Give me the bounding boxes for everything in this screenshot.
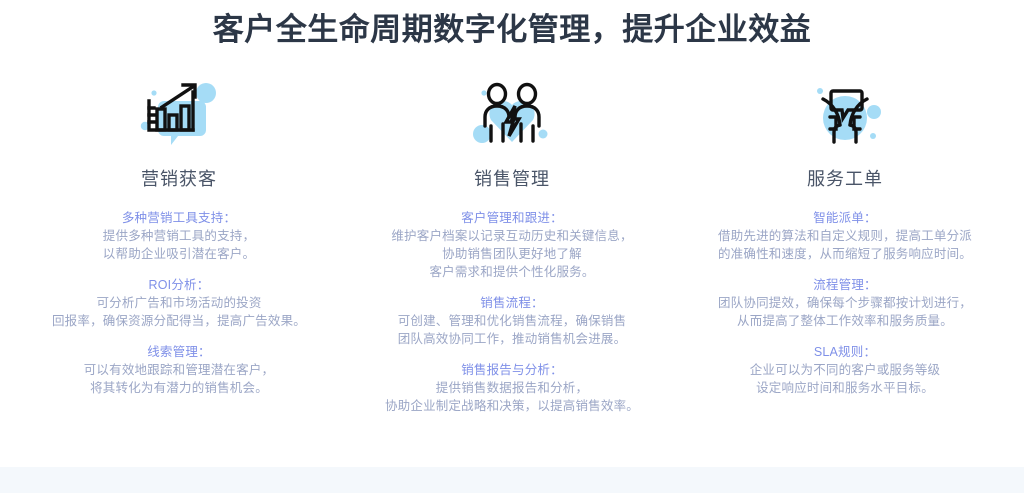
support-agent-speech-bubble-icon: [790, 74, 900, 156]
feature-section-page: 客户全生命周期数字化管理，提升企业效益: [0, 0, 1024, 493]
block-line: 团队协同提效，确保每个步骤都按计划进行，: [679, 294, 1012, 312]
feature-body-marketing: 多种营销工具支持： 提供多种营销工具的支持， 以帮助企业吸引潜在客户。 ROI分…: [13, 209, 346, 397]
block-lines: 企业可以为不同的客户或服务等级 设定响应时间和服务水平目标。: [679, 361, 1012, 397]
block-lines: 可分析广告和市场活动的投资 回报率，确保资源分配得当，提高广告效果。: [13, 294, 346, 330]
feature-block: 流程管理： 团队协同提效，确保每个步骤都按计划进行， 从而提高了整体工作效率和服…: [679, 276, 1012, 330]
block-label: 客户管理和跟进：: [346, 209, 679, 227]
feature-block: 多种营销工具支持： 提供多种营销工具的支持， 以帮助企业吸引潜在客户。: [13, 209, 346, 263]
feature-column-sales: 销售管理 客户管理和跟进： 维护客户档案以记录互动历史和关键信息， 协助销售团队…: [346, 74, 679, 414]
feature-block: 线索管理： 可以有效地跟踪和管理潜在客户， 将其转化为有潜力的销售机会。: [13, 343, 346, 397]
block-lines: 提供多种营销工具的支持， 以帮助企业吸引潜在客户。: [13, 227, 346, 263]
two-people-lightning-heart-icon: [457, 74, 567, 156]
feature-block: 客户管理和跟进： 维护客户档案以记录互动历史和关键信息， 协助销售团队更好地了解…: [346, 209, 679, 281]
block-label: 销售报告与分析：: [346, 361, 679, 379]
block-line: 维护客户档案以记录互动历史和关键信息，: [346, 227, 679, 245]
block-line: 企业可以为不同的客户或服务等级: [679, 361, 1012, 379]
block-line: 提供多种营销工具的支持，: [13, 227, 346, 245]
block-lines: 团队协同提效，确保每个步骤都按计划进行， 从而提高了整体工作效率和服务质量。: [679, 294, 1012, 330]
block-label: 销售流程：: [346, 294, 679, 312]
feature-columns: 营销获客 多种营销工具支持： 提供多种营销工具的支持， 以帮助企业吸引潜在客户。…: [0, 74, 1024, 414]
block-line: 从而提高了整体工作效率和服务质量。: [679, 312, 1012, 330]
block-label: 线索管理：: [13, 343, 346, 361]
block-label: SLA规则：: [679, 343, 1012, 361]
block-label: 智能派单：: [679, 209, 1012, 227]
feature-column-service: 服务工单 智能派单： 借助先进的算法和自定义规则，提高工单分派 的准确性和速度，…: [679, 74, 1012, 396]
block-lines: 可创建、管理和优化销售流程，确保销售 团队高效协同工作，推动销售机会进展。: [346, 312, 679, 348]
block-line: 以帮助企业吸引潜在客户。: [13, 245, 346, 263]
feature-column-marketing: 营销获客 多种营销工具支持： 提供多种营销工具的支持， 以帮助企业吸引潜在客户。…: [13, 74, 346, 396]
block-lines: 维护客户档案以记录互动历史和关键信息， 协助销售团队更好地了解 客户需求和提供个…: [346, 227, 679, 281]
block-lines: 可以有效地跟踪和管理潜在客户， 将其转化为有潜力的销售机会。: [13, 361, 346, 397]
footer-band: [0, 467, 1024, 493]
block-line: 客户需求和提供个性化服务。: [346, 263, 679, 281]
block-label: ROI分析：: [13, 276, 346, 294]
block-line: 可创建、管理和优化销售流程，确保销售: [346, 312, 679, 330]
block-line: 提供销售数据报告和分析，: [346, 379, 679, 397]
feature-block: 智能派单： 借助先进的算法和自定义规则，提高工单分派 的准确性和速度，从而缩短了…: [679, 209, 1012, 263]
bar-chart-growth-icon: [124, 74, 234, 156]
feature-title-sales: 销售管理: [474, 168, 550, 191]
block-label: 流程管理：: [679, 276, 1012, 294]
block-line: 回报率，确保资源分配得当，提高广告效果。: [13, 312, 346, 330]
block-line: 将其转化为有潜力的销售机会。: [13, 379, 346, 397]
feature-body-sales: 客户管理和跟进： 维护客户档案以记录互动历史和关键信息， 协助销售团队更好地了解…: [346, 209, 679, 415]
block-line: 团队高效协同工作，推动销售机会进展。: [346, 330, 679, 348]
block-lines: 借助先进的算法和自定义规则，提高工单分派 的准确性和速度，从而缩短了服务响应时间…: [679, 227, 1012, 263]
block-lines: 提供销售数据报告和分析， 协助企业制定战略和决策，以提高销售效率。: [346, 379, 679, 415]
feature-block: SLA规则： 企业可以为不同的客户或服务等级 设定响应时间和服务水平目标。: [679, 343, 1012, 397]
block-label: 多种营销工具支持：: [13, 209, 346, 227]
page-title: 客户全生命周期数字化管理，提升企业效益: [0, 0, 1024, 48]
block-line: 可以有效地跟踪和管理潜在客户，: [13, 361, 346, 379]
block-line: 设定响应时间和服务水平目标。: [679, 379, 1012, 397]
feature-body-service: 智能派单： 借助先进的算法和自定义规则，提高工单分派 的准确性和速度，从而缩短了…: [679, 209, 1012, 397]
block-line: 的准确性和速度，从而缩短了服务响应时间。: [679, 245, 1012, 263]
block-line: 借助先进的算法和自定义规则，提高工单分派: [679, 227, 1012, 245]
feature-block: 销售报告与分析： 提供销售数据报告和分析， 协助企业制定战略和决策，以提高销售效…: [346, 361, 679, 415]
feature-block: ROI分析： 可分析广告和市场活动的投资 回报率，确保资源分配得当，提高广告效果…: [13, 276, 346, 330]
feature-title-service: 服务工单: [807, 168, 883, 191]
block-line: 协助企业制定战略和决策，以提高销售效率。: [346, 397, 679, 415]
feature-block: 销售流程： 可创建、管理和优化销售流程，确保销售 团队高效协同工作，推动销售机会…: [346, 294, 679, 348]
block-line: 协助销售团队更好地了解: [346, 245, 679, 263]
block-line: 可分析广告和市场活动的投资: [13, 294, 346, 312]
feature-title-marketing: 营销获客: [141, 168, 217, 191]
